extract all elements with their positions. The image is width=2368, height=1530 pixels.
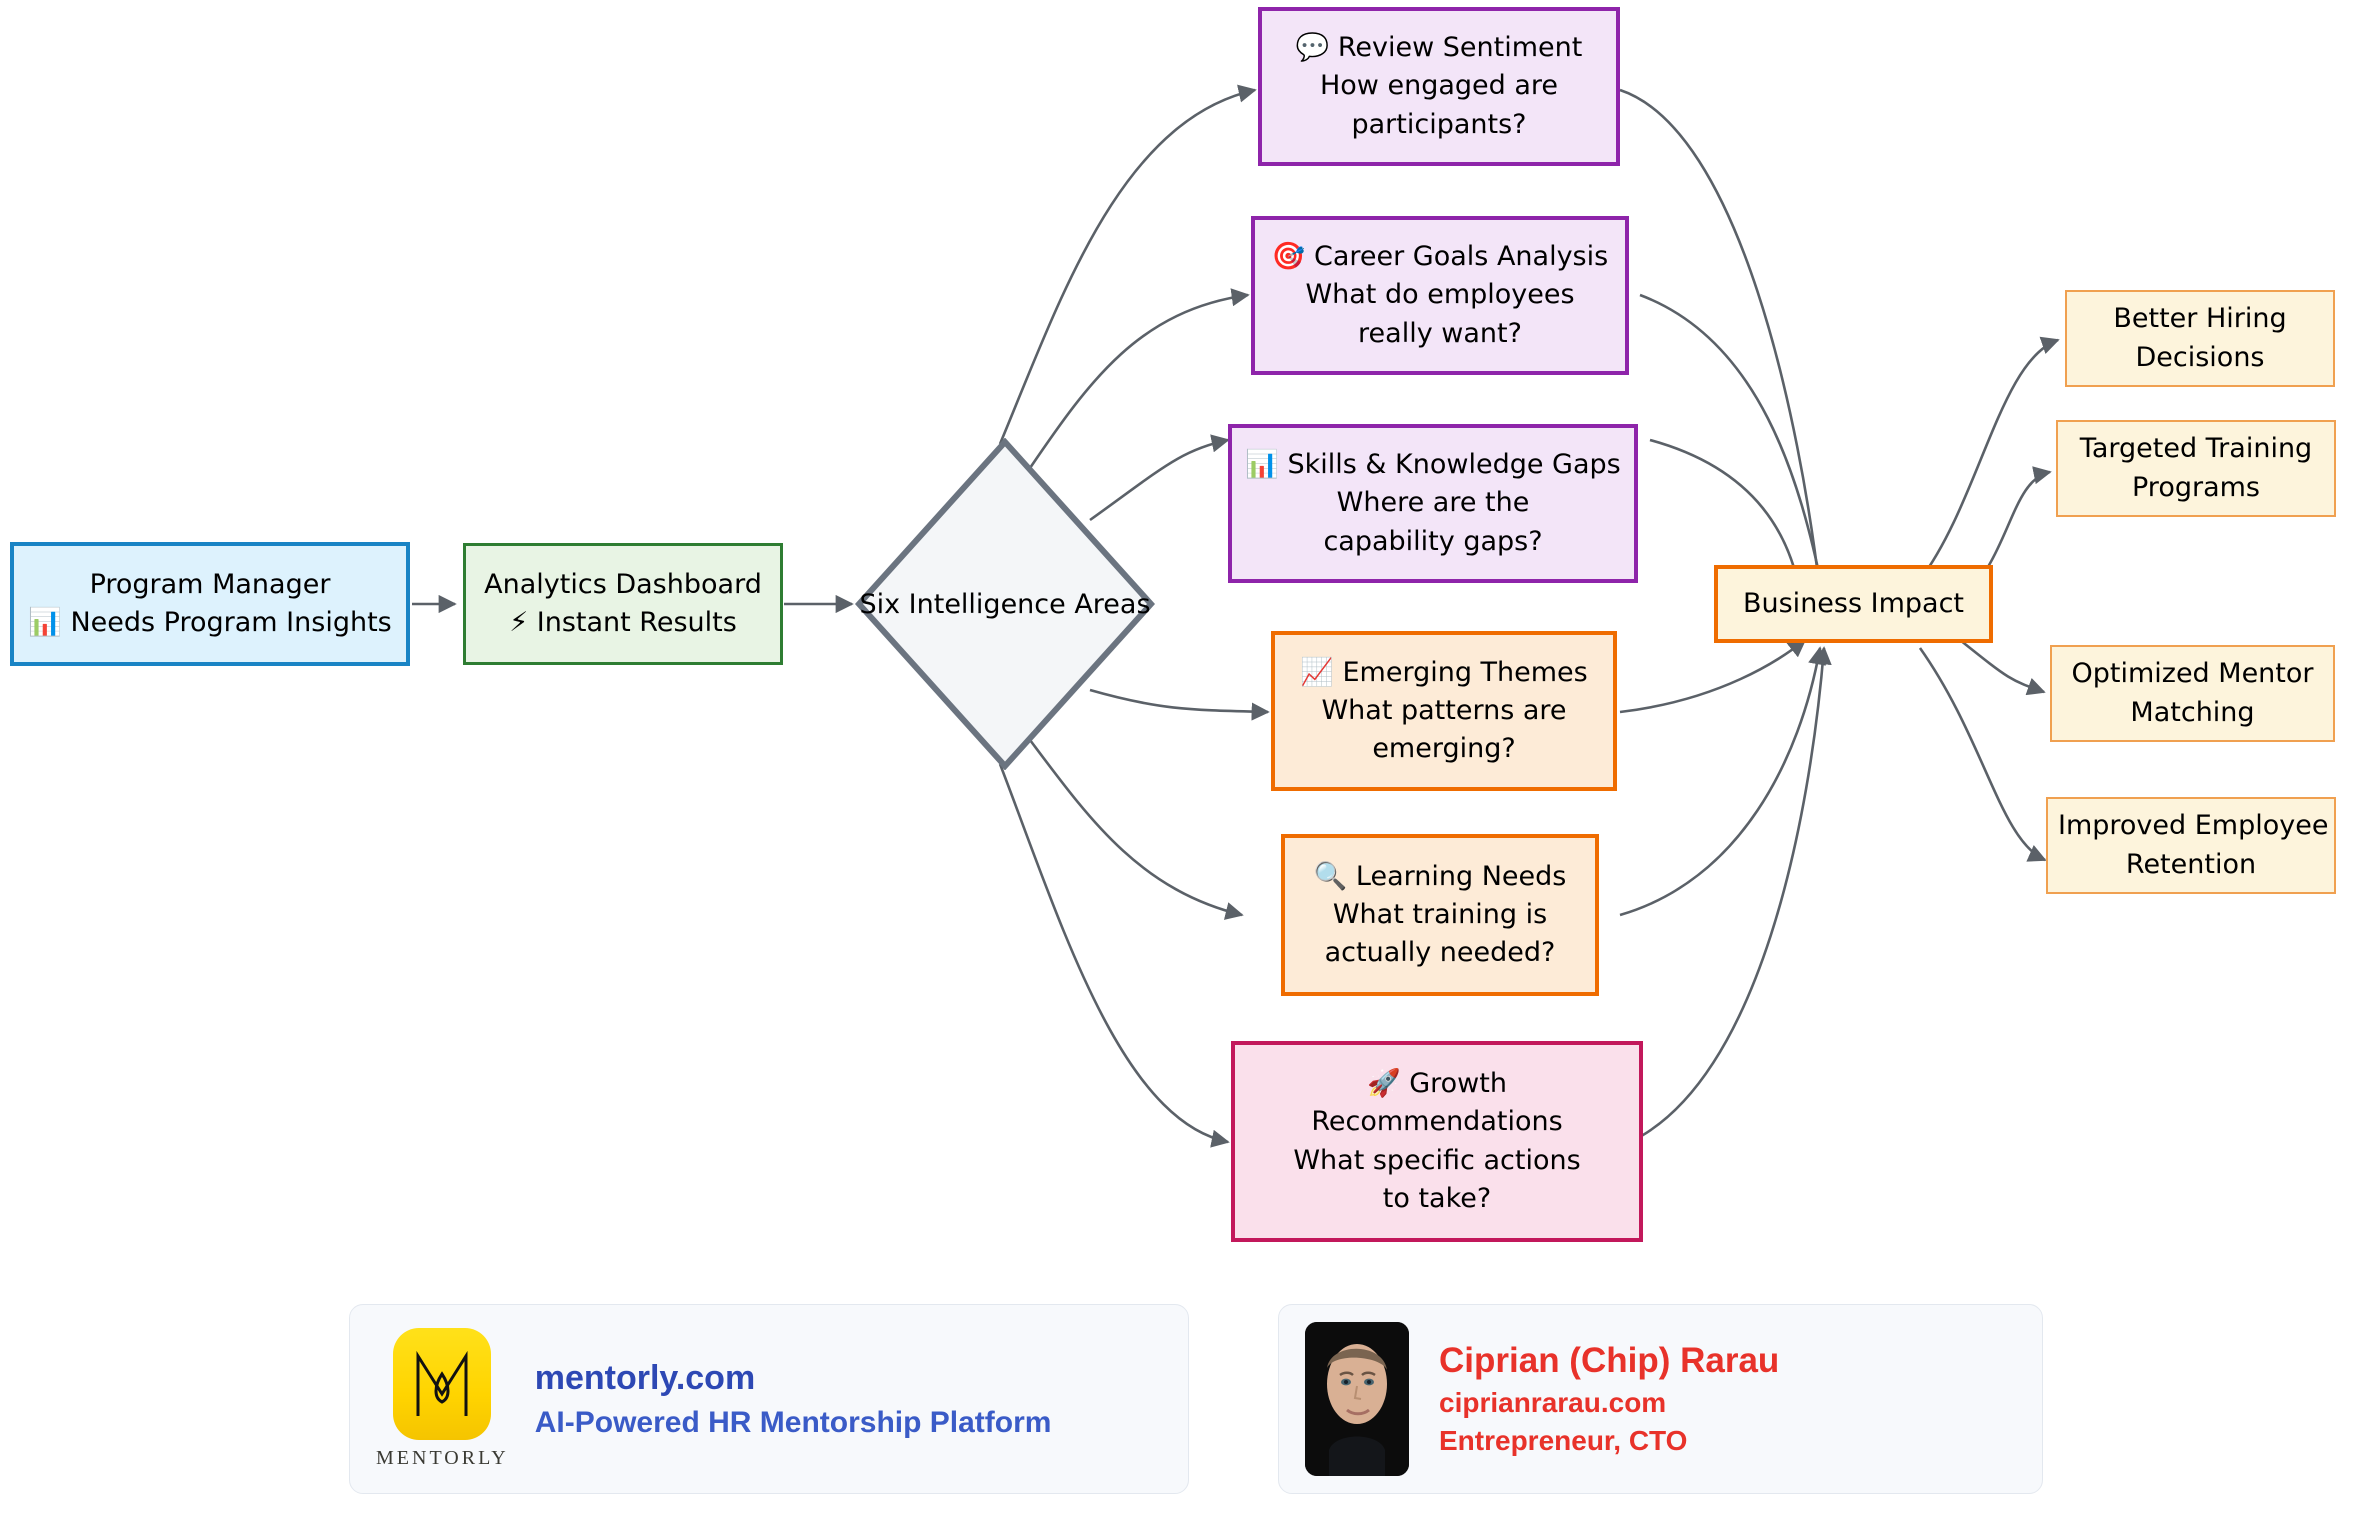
node-review-sentiment[interactable]: 💬 Review Sentiment How engaged are parti… — [1258, 7, 1620, 166]
person-text-block: Ciprian (Chip) Rarau ciprianrarau.com En… — [1439, 1341, 1779, 1457]
node-business-impact[interactable]: Business Impact — [1714, 565, 1993, 643]
node-emerging-themes-line-1: What patterns are — [1285, 692, 1603, 730]
brand-logo-block: MENTORLY — [376, 1328, 509, 1470]
edge-area4-impact — [1620, 640, 1805, 712]
node-career-goals-analysis-line-1: What do employees — [1265, 276, 1615, 314]
node-outcome-better-hiring-decisions[interactable]: Better Hiring Decisions — [2065, 290, 2335, 387]
brand-text-block: mentorly.com AI-Powered HR Mentorship Pl… — [535, 1359, 1052, 1440]
node-analytics-dashboard-line-1: Analytics Dashboard — [476, 566, 770, 604]
mentorly-logo-icon — [393, 1328, 491, 1440]
person-name: Ciprian (Chip) Rarau — [1439, 1341, 1779, 1381]
speech-balloon-icon: 💬 — [1296, 32, 1330, 63]
node-learning-needs-line-2: actually needed? — [1295, 934, 1585, 972]
node-outcome-4-line-1: Improved Employee — [2058, 807, 2324, 845]
node-analytics-dashboard-line-2: ⚡ Instant Results — [476, 604, 770, 642]
node-career-goals-analysis-title: 🎯 Career Goals Analysis — [1265, 238, 1615, 276]
rocket-icon: 🚀 — [1367, 1068, 1401, 1099]
edge-hub-area1 — [1000, 90, 1255, 444]
node-outcome-1-line-1: Better Hiring — [2077, 300, 2323, 338]
edge-area5-impact — [1620, 648, 1820, 915]
mentorly-m-glyph — [410, 1346, 474, 1422]
brand-tagline: AI-Powered HR Mentorship Platform — [535, 1406, 1052, 1440]
node-six-intelligence-areas[interactable]: Six Intelligence Areas — [855, 438, 1155, 770]
avatar — [1305, 1322, 1409, 1476]
node-growth-recommendations-line-2: What specific actions — [1245, 1142, 1629, 1180]
node-review-sentiment-title-text: Review Sentiment — [1338, 32, 1582, 63]
edge-impact-outcome3 — [1960, 640, 2044, 692]
node-analytics-dashboard[interactable]: Analytics Dashboard ⚡ Instant Results — [463, 543, 783, 665]
node-six-intelligence-areas-label: Six Intelligence Areas — [859, 589, 1150, 620]
node-outcome-optimized-mentor-matching[interactable]: Optimized Mentor Matching — [2050, 645, 2335, 742]
edge-hub-area6 — [1000, 764, 1228, 1142]
diagram-canvas: Program Manager 📊 Needs Program Insights… — [0, 0, 2368, 1530]
brand-wordmark: MENTORLY — [376, 1447, 509, 1470]
node-outcome-1-line-2: Decisions — [2077, 339, 2323, 377]
node-program-manager-line-2: 📊 Needs Program Insights — [24, 604, 396, 642]
node-emerging-themes-line-2: emerging? — [1285, 730, 1603, 768]
avatar-portrait — [1305, 1322, 1409, 1476]
node-emerging-themes[interactable]: 📈 Emerging Themes What patterns are emer… — [1271, 631, 1617, 791]
edge-area1-impact — [1620, 90, 1820, 592]
node-career-goals-analysis-line-2: really want? — [1265, 315, 1615, 353]
node-outcome-improved-employee-retention[interactable]: Improved Employee Retention — [2046, 797, 2336, 894]
node-learning-needs[interactable]: 🔍 Learning Needs What training is actual… — [1281, 834, 1599, 996]
node-growth-recommendations-line-1: Recommendations — [1245, 1103, 1629, 1141]
node-business-impact-label: Business Impact — [1728, 585, 1979, 623]
magnifying-glass-icon: 🔍 — [1314, 861, 1348, 892]
node-skills-knowledge-gaps-title: 📊 Skills & Knowledge Gaps — [1242, 446, 1624, 484]
node-skills-knowledge-gaps-line-1: Where are the — [1242, 484, 1624, 522]
node-outcome-3-line-1: Optimized Mentor — [2062, 655, 2323, 693]
node-program-manager[interactable]: Program Manager 📊 Needs Program Insights — [10, 542, 410, 666]
node-skills-knowledge-gaps[interactable]: 📊 Skills & Knowledge Gaps Where are the … — [1228, 424, 1638, 583]
node-emerging-themes-title-text: Emerging Themes — [1342, 657, 1587, 688]
node-career-goals-analysis[interactable]: 🎯 Career Goals Analysis What do employee… — [1251, 216, 1629, 375]
brand-site-link[interactable]: mentorly.com — [535, 1359, 1052, 1398]
person-role: Entrepreneur, CTO — [1439, 1425, 1779, 1457]
node-skills-knowledge-gaps-line-2: capability gaps? — [1242, 523, 1624, 561]
node-program-manager-line-1: Program Manager — [24, 566, 396, 604]
node-review-sentiment-line-2: participants? — [1272, 106, 1606, 144]
node-skills-knowledge-gaps-title-text: Skills & Knowledge Gaps — [1287, 449, 1620, 480]
node-career-goals-analysis-title-text: Career Goals Analysis — [1314, 241, 1608, 272]
node-growth-recommendations-title: 🚀 Growth — [1245, 1065, 1629, 1103]
chart-increasing-icon: 📈 — [1300, 657, 1334, 688]
edge-area6-impact — [1630, 648, 1824, 1142]
node-outcome-2-line-2: Programs — [2068, 469, 2324, 507]
edge-area2-impact — [1640, 295, 1823, 592]
node-emerging-themes-title: 📈 Emerging Themes — [1285, 654, 1603, 692]
person-site-link[interactable]: ciprianrarau.com — [1439, 1387, 1779, 1419]
node-learning-needs-title-text: Learning Needs — [1356, 861, 1566, 892]
edge-layer — [0, 0, 2368, 1530]
node-growth-recommendations-title-text: Growth — [1409, 1068, 1507, 1099]
edge-impact-outcome4 — [1920, 648, 2045, 860]
node-outcome-targeted-training-programs[interactable]: Targeted Training Programs — [2056, 420, 2336, 517]
edge-impact-outcome1 — [1920, 340, 2058, 580]
node-growth-recommendations-line-3: to take? — [1245, 1180, 1629, 1218]
brand-card[interactable]: MENTORLY mentorly.com AI-Powered HR Ment… — [349, 1304, 1189, 1494]
target-icon: 🎯 — [1272, 241, 1306, 272]
node-learning-needs-line-1: What training is — [1295, 896, 1585, 934]
node-review-sentiment-line-1: How engaged are — [1272, 67, 1606, 105]
node-learning-needs-title: 🔍 Learning Needs — [1295, 858, 1585, 896]
node-review-sentiment-title: 💬 Review Sentiment — [1272, 29, 1606, 67]
node-outcome-4-line-2: Retention — [2058, 846, 2324, 884]
node-outcome-2-line-1: Targeted Training — [2068, 430, 2324, 468]
node-growth-recommendations[interactable]: 🚀 Growth Recommendations What specific a… — [1231, 1041, 1643, 1242]
person-card[interactable]: Ciprian (Chip) Rarau ciprianrarau.com En… — [1278, 1304, 2043, 1494]
node-outcome-3-line-2: Matching — [2062, 694, 2323, 732]
bar-chart-icon: 📊 — [1245, 449, 1279, 480]
